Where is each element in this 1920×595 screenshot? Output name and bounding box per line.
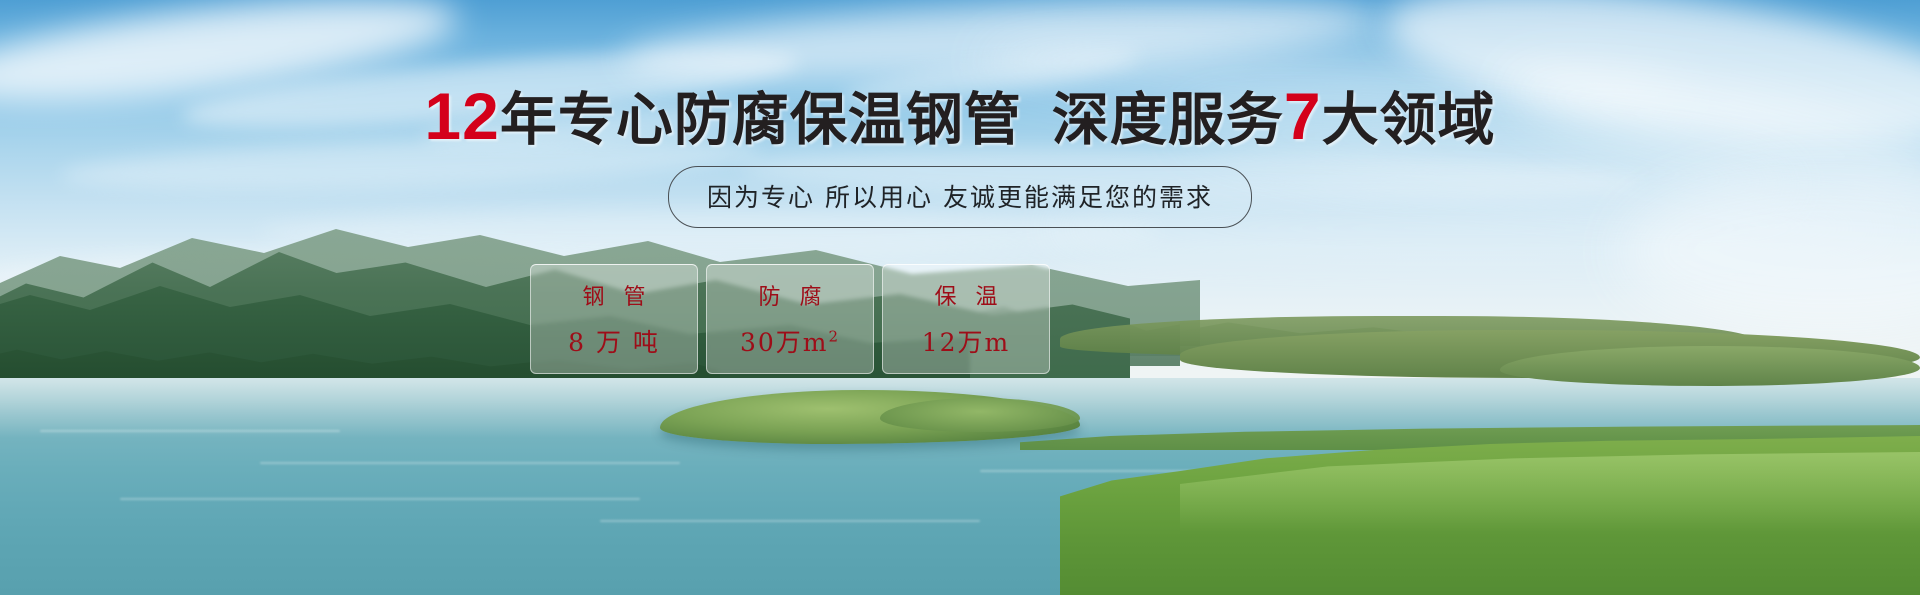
headline-fields-number: 7 [1284,79,1322,153]
headline: 12年专心防腐保温钢管深度服务7大领域 [0,83,1920,149]
stat-card-label: 钢 管 [577,279,652,311]
headline-text-a: 年专心防腐保温钢管 [500,87,1022,153]
stat-card-value-text: 8 万 吨 [568,328,660,357]
headline-text-c: 大领域 [1322,87,1496,153]
stat-card-value: 8 万 吨 [568,323,660,359]
subtitle-pill: 因为专心 所以用心 友诚更能满足您的需求 [668,166,1252,228]
stat-card-value: 30万m2 [740,323,840,359]
stat-card-label: 保 温 [929,279,1004,311]
headline-text-b: 深度服务 [1052,87,1284,153]
stat-card-label: 防 腐 [753,279,828,311]
stat-card-list: 钢 管 8 万 吨 防 腐 30万m2 保 温 12万m [530,264,1050,374]
banner-content: 12年专心防腐保温钢管深度服务7大领域 因为专心 所以用心 友诚更能满足您的需求… [0,0,1920,595]
stat-card-steel-pipe: 钢 管 8 万 吨 [530,264,698,374]
hero-banner: 12年专心防腐保温钢管深度服务7大领域 因为专心 所以用心 友诚更能满足您的需求… [0,0,1920,595]
headline-years-number: 12 [424,79,499,153]
stat-card-insulation: 保 温 12万m [882,264,1050,374]
subtitle-container: 因为专心 所以用心 友诚更能满足您的需求 [0,166,1920,228]
stat-card-value: 12万m [922,323,1011,359]
stat-card-value-exponent: 2 [828,328,840,346]
stat-card-anticorrosion: 防 腐 30万m2 [706,264,874,374]
stat-card-value-text: 30万m [740,328,829,357]
stat-card-value-text: 12万m [922,328,1011,357]
